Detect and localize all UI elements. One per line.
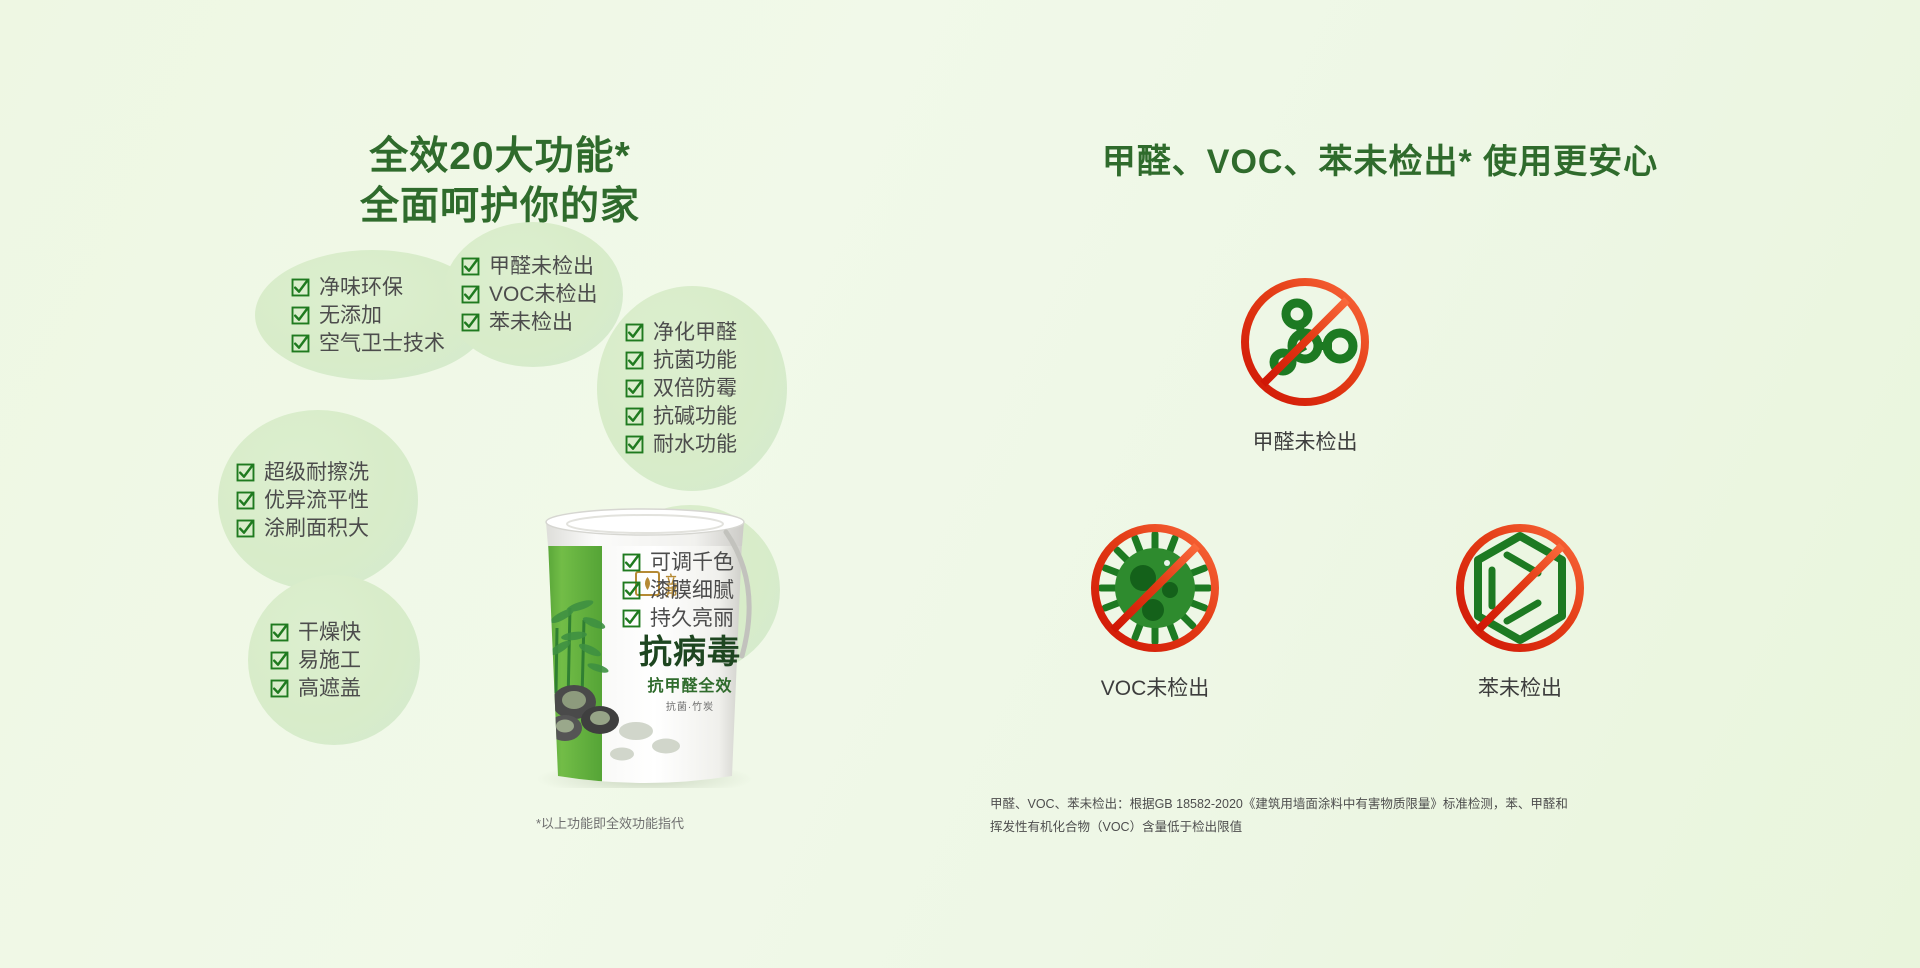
feature-label: 持久亮丽 [650, 608, 734, 629]
feature-label: 空气卫士技术 [319, 333, 445, 354]
feature-label: 易施工 [298, 650, 361, 671]
check-icon [461, 257, 480, 276]
feature-item: 可调千色 [622, 552, 780, 573]
feature-label: 高遮盖 [298, 678, 361, 699]
badge-benzene: 苯未检出 [1395, 518, 1645, 702]
check-icon [291, 278, 310, 297]
feature-item: 净化甲醛 [625, 322, 787, 343]
svg-text:抗甲醛全效: 抗甲醛全效 [647, 676, 732, 695]
check-icon [622, 553, 641, 572]
feature-label: 耐水功能 [653, 434, 737, 455]
molecule-icon [1235, 272, 1375, 412]
feature-item: 易施工 [270, 650, 420, 671]
check-icon [625, 351, 644, 370]
virus-icon [1085, 518, 1225, 658]
check-icon [625, 435, 644, 454]
right-disclaimer: 甲醛、VOC、苯未检出：根据GB 18582-2020《建筑用墙面涂料中有害物质… [990, 793, 1670, 839]
product-paint-bucket: 立 邦 抗病毒 抗甲醛全效 抗菌·竹炭 [510, 488, 780, 788]
check-icon [236, 463, 255, 482]
feature-item: VOC未检出 [461, 284, 623, 305]
feature-item: 涂刷面积大 [236, 518, 418, 539]
feature-bubble-protection: 净化甲醛 抗菌功能 双倍防霉 抗碱功能 耐水功能 [597, 286, 787, 491]
left-heading-line1: 全效20大功能* [369, 135, 631, 178]
feature-item: 漆膜细腻 [622, 580, 780, 601]
badge-formaldehyde: 甲醛未检出 [1180, 272, 1430, 456]
feature-item: 甲醛未检出 [461, 256, 623, 277]
check-icon [622, 581, 641, 600]
disclaimer-line-1: 甲醛、VOC、苯未检出：根据GB 18582-2020《建筑用墙面涂料中有害物质… [990, 793, 1670, 816]
left-footnote: *以上功能即全效功能指代 [420, 813, 800, 832]
badge-caption: VOC未检出 [1030, 672, 1280, 702]
left-panel-heading: 全效20大功能* 全面呵护你的家 [0, 132, 1000, 232]
badge-voc: VOC未检出 [1030, 518, 1280, 702]
badge-caption: 甲醛未检出 [1180, 426, 1430, 456]
svg-text:抗菌·竹炭: 抗菌·竹炭 [666, 700, 714, 713]
right-panel-heading: 甲醛、VOC、苯未检出* 使用更安心 [1000, 134, 1760, 183]
feature-item: 持久亮丽 [622, 608, 780, 629]
feature-label: 抗碱功能 [653, 406, 737, 427]
check-icon [625, 323, 644, 342]
feature-item: 高遮盖 [270, 678, 420, 699]
feature-bubble-application: 干燥快 易施工 高遮盖 [248, 575, 420, 745]
feature-item: 优异流平性 [236, 490, 418, 511]
feature-label: 涂刷面积大 [264, 518, 369, 539]
infographic-canvas: 全效20大功能* 全面呵护你的家 甲醛、VOC、苯未检出* 使用更安心 净味环保… [0, 0, 1920, 968]
feature-label: VOC未检出 [489, 284, 598, 305]
feature-label: 漆膜细腻 [650, 580, 734, 601]
benzene-ring-icon [1450, 518, 1590, 658]
feature-label: 优异流平性 [264, 490, 369, 511]
feature-item: 抗碱功能 [625, 406, 787, 427]
check-icon [291, 334, 310, 353]
feature-label: 无添加 [319, 305, 382, 326]
feature-label: 净味环保 [319, 277, 403, 298]
feature-item: 抗菌功能 [625, 350, 787, 371]
feature-label: 抗菌功能 [653, 350, 737, 371]
feature-bubble-durability: 超级耐擦洗 优异流平性 涂刷面积大 [218, 410, 418, 590]
feature-item: 干燥快 [270, 622, 420, 643]
check-icon [270, 679, 289, 698]
badge-caption: 苯未检出 [1395, 672, 1645, 702]
check-icon [625, 407, 644, 426]
check-icon [236, 519, 255, 538]
feature-item: 双倍防霉 [625, 378, 787, 399]
feature-label: 超级耐擦洗 [264, 462, 369, 483]
feature-item: 超级耐擦洗 [236, 462, 418, 483]
feature-item: 耐水功能 [625, 434, 787, 455]
check-icon [270, 623, 289, 642]
disclaimer-line-2: 挥发性有机化合物（VOC）含量低于检出限值 [990, 816, 1670, 839]
feature-label: 干燥快 [298, 622, 361, 643]
feature-label: 双倍防霉 [653, 378, 737, 399]
left-heading-line2: 全面呵护你的家 [0, 182, 1000, 232]
feature-label: 可调千色 [650, 552, 734, 573]
check-icon [622, 609, 641, 628]
check-icon [461, 285, 480, 304]
feature-label: 甲醛未检出 [489, 256, 594, 277]
feature-label: 净化甲醛 [653, 322, 737, 343]
check-icon [625, 379, 644, 398]
check-icon [236, 491, 255, 510]
check-icon [461, 313, 480, 332]
check-icon [270, 651, 289, 670]
svg-text:抗病毒: 抗病毒 [639, 633, 741, 670]
feature-label: 苯未检出 [489, 312, 573, 333]
check-icon [291, 306, 310, 325]
